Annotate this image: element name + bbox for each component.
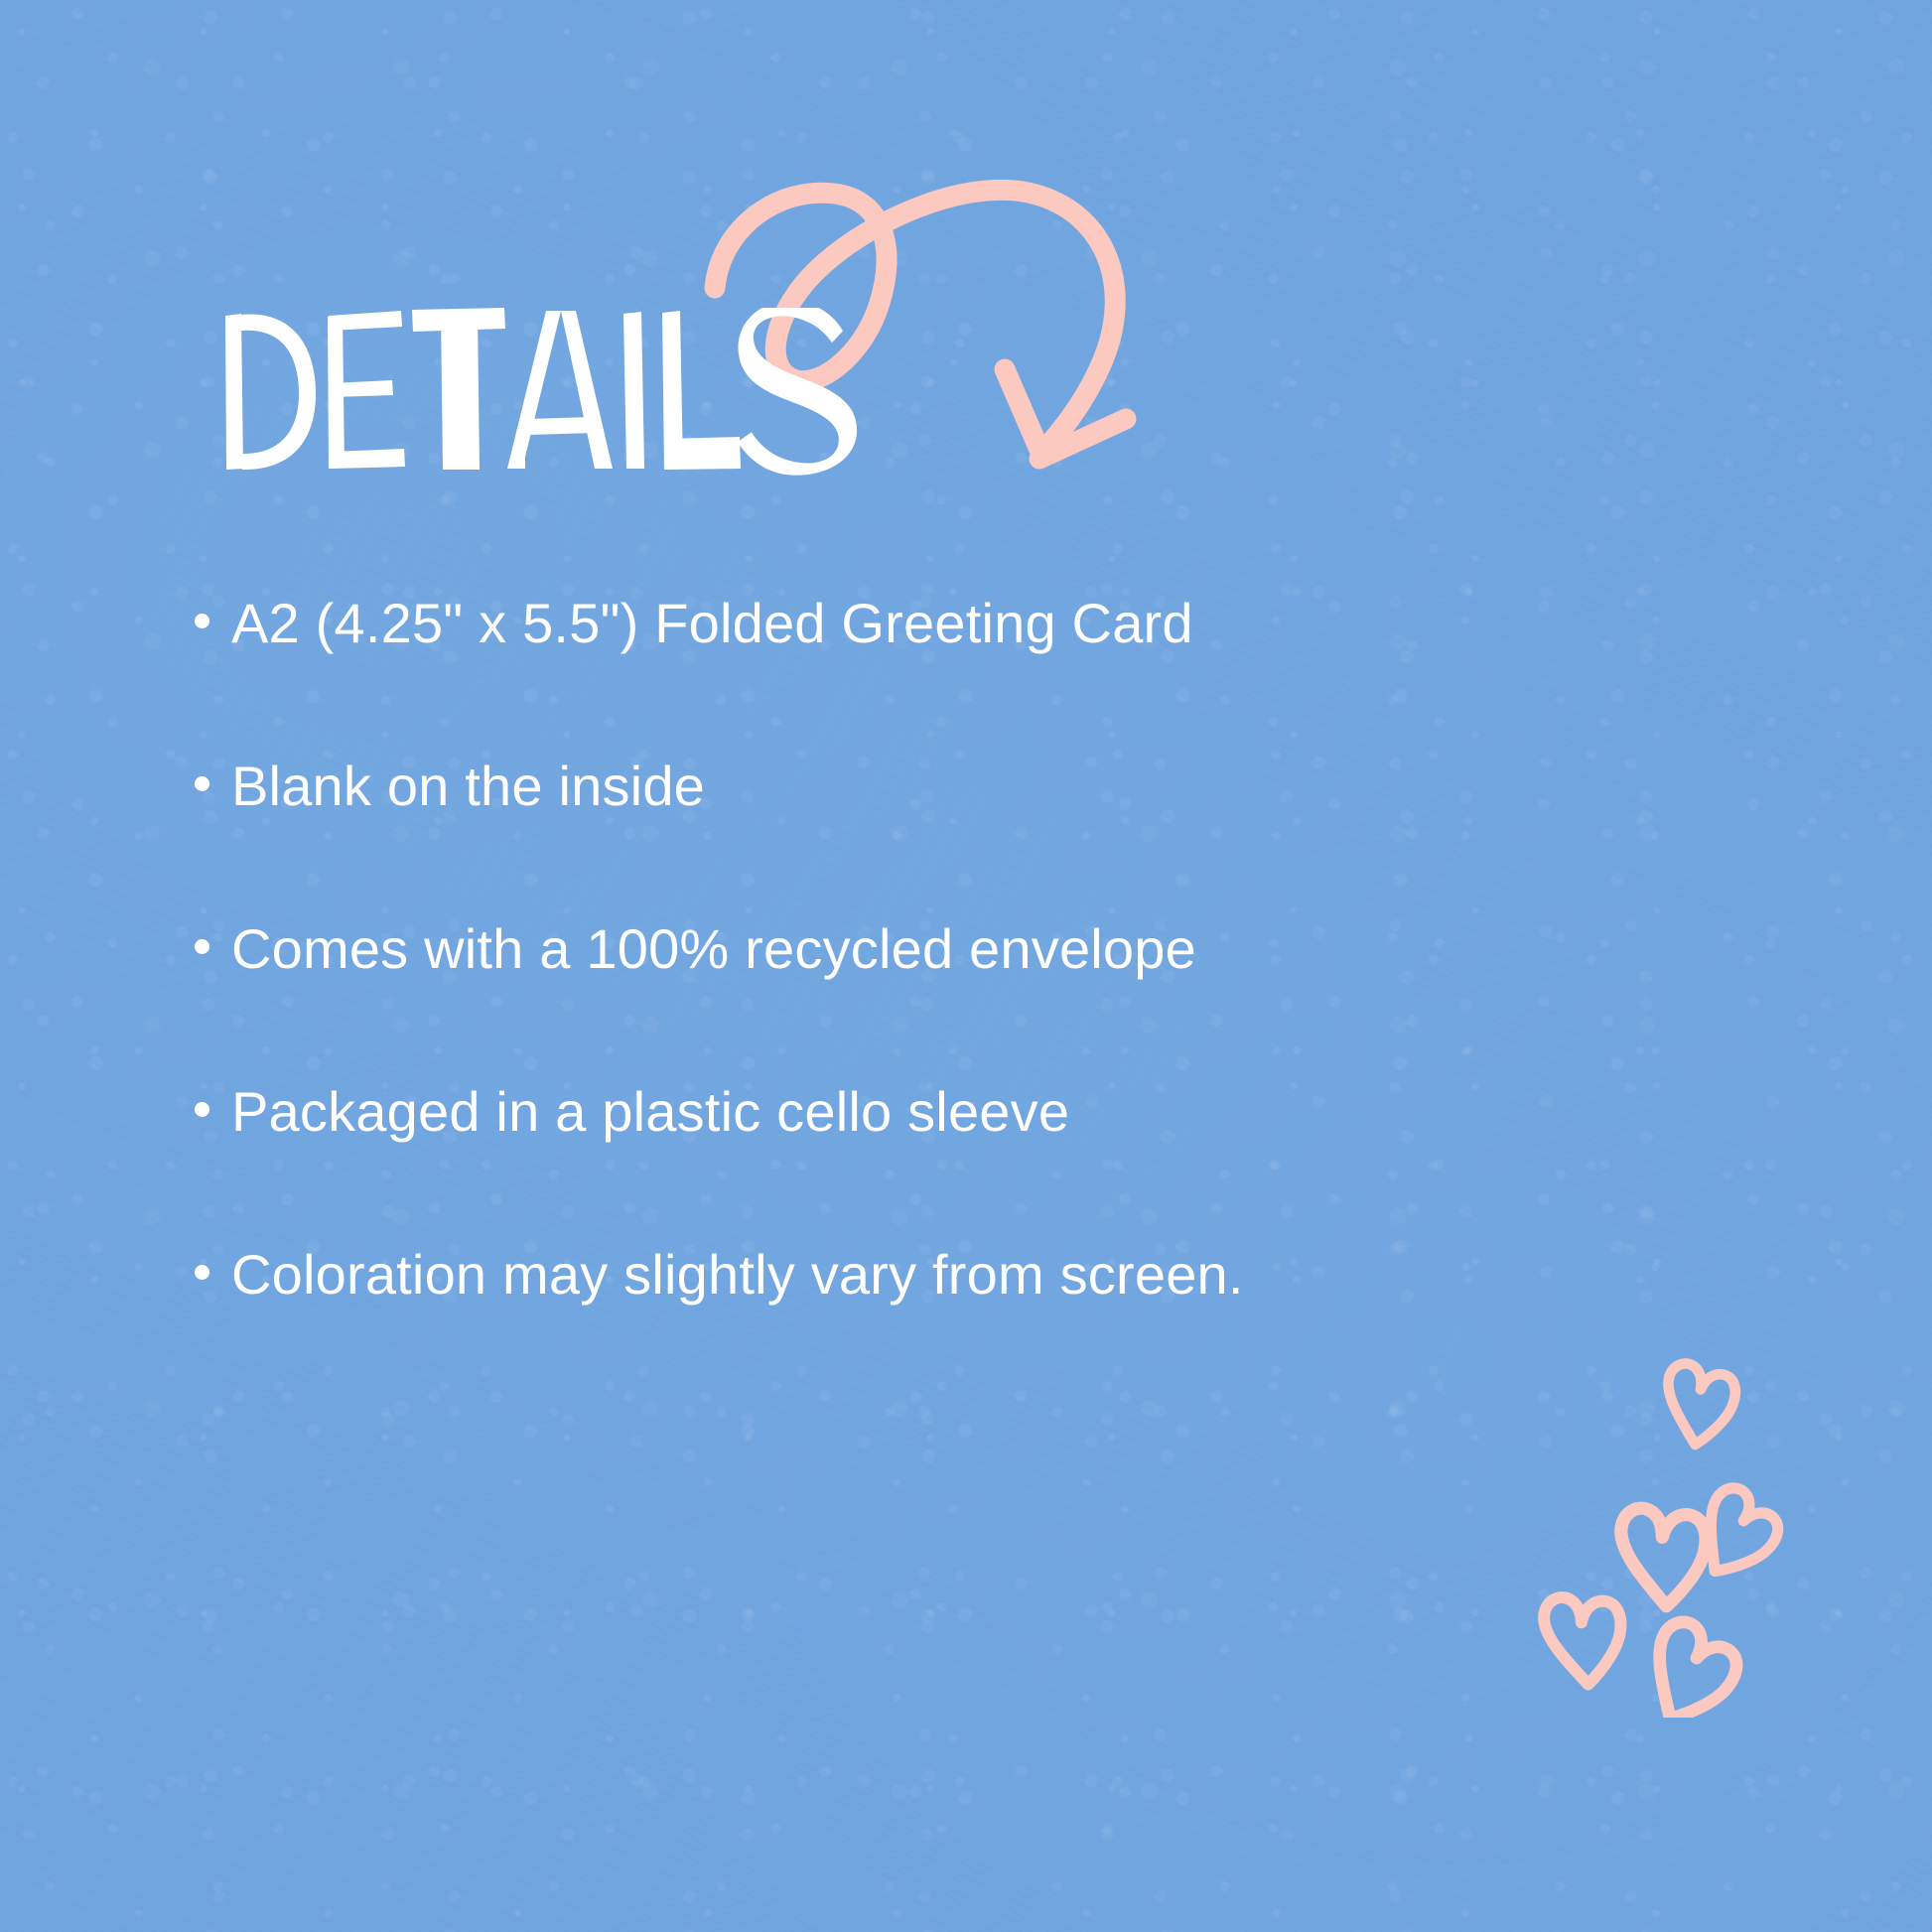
bullet-dot-icon	[195, 939, 209, 954]
list-item: Blank on the inside	[195, 759, 1783, 814]
page-title	[223, 298, 879, 477]
bullet-dot-icon	[195, 614, 209, 628]
bullet-dot-icon	[195, 1265, 209, 1280]
list-item-label: Comes with a 100% recycled envelope	[231, 921, 1196, 977]
list-item: Coloration may slightly vary from screen…	[195, 1247, 1783, 1303]
details-card-canvas: A2 (4.25" x 5.5") Folded Greeting Card B…	[0, 0, 1932, 1932]
list-item: A2 (4.25" x 5.5") Folded Greeting Card	[195, 596, 1783, 651]
list-item-label: Packaged in a plastic cello sleeve	[231, 1084, 1069, 1140]
list-item-label: Coloration may slightly vary from screen…	[231, 1247, 1244, 1303]
bullet-dot-icon	[195, 776, 209, 791]
list-item-label: Blank on the inside	[231, 759, 705, 814]
bullet-dot-icon	[195, 1102, 209, 1117]
page-title-lettering	[223, 308, 879, 477]
list-item: Packaged in a plastic cello sleeve	[195, 1084, 1783, 1140]
list-item: Comes with a 100% recycled envelope	[195, 921, 1783, 977]
list-item-label: A2 (4.25" x 5.5") Folded Greeting Card	[231, 596, 1193, 651]
details-list: A2 (4.25" x 5.5") Folded Greeting Card B…	[195, 596, 1783, 1410]
